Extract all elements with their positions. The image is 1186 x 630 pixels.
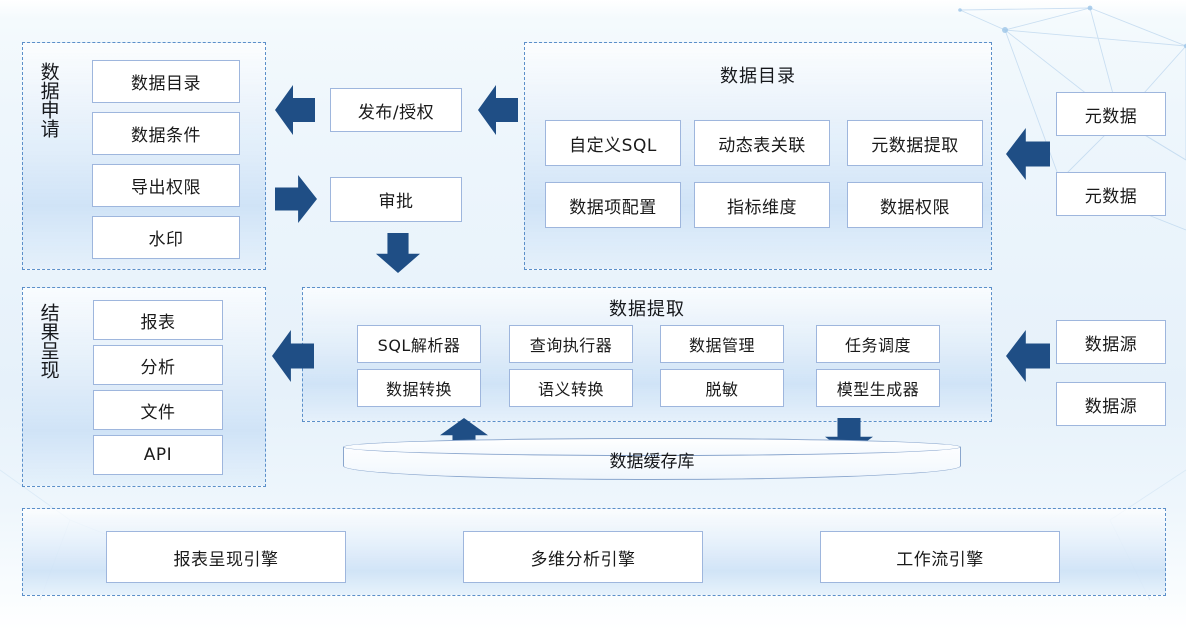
catalog-item-2[interactable]: 元数据提取	[847, 120, 983, 166]
catalog-to-publish-arrow-left-icon	[478, 85, 518, 135]
publish-to-request-arrow-left-icon	[275, 85, 315, 135]
metadata-to-catalog-arrow-left-icon	[1006, 128, 1050, 180]
result-item-0[interactable]: 报表	[93, 300, 223, 340]
extract-item-0[interactable]: SQL解析器	[357, 325, 481, 363]
approve-box[interactable]: 审批	[330, 177, 462, 222]
result-item-1[interactable]: 分析	[93, 345, 223, 385]
extract-item-1[interactable]: 查询执行器	[509, 325, 633, 363]
result-item-3[interactable]: API	[93, 435, 223, 475]
data-extract-panel-title: 数据提取	[302, 295, 992, 321]
extract-item-4[interactable]: 数据转换	[357, 369, 481, 407]
result-presentation-panel-label: 结果呈现	[33, 303, 63, 384]
data-request-item-2[interactable]: 导出权限	[92, 164, 240, 207]
datasource-to-extract-arrow-left-icon	[1006, 330, 1050, 382]
data-catalog-panel-title: 数据目录	[524, 62, 992, 88]
metadata-item-1[interactable]: 元数据	[1056, 172, 1166, 216]
catalog-item-0[interactable]: 自定义SQL	[545, 120, 681, 166]
datasource-item-1[interactable]: 数据源	[1056, 382, 1166, 426]
extract-item-5[interactable]: 语义转换	[509, 369, 633, 407]
extract-item-3[interactable]: 任务调度	[816, 325, 940, 363]
datasource-item-0[interactable]: 数据源	[1056, 320, 1166, 364]
diagram-canvas: 数据申请 数据目录 数据条件 导出权限 水印 结果呈现 报表 分析 文件 API…	[0, 0, 1186, 630]
data-request-item-1[interactable]: 数据条件	[92, 112, 240, 155]
result-item-2[interactable]: 文件	[93, 390, 223, 430]
catalog-item-1[interactable]: 动态表关联	[694, 120, 830, 166]
catalog-item-3[interactable]: 数据项配置	[545, 182, 681, 228]
extract-item-7[interactable]: 模型生成器	[816, 369, 940, 407]
extract-item-6[interactable]: 脱敏	[660, 369, 784, 407]
request-to-approve-arrow-right-icon	[275, 175, 317, 223]
extract-item-2[interactable]: 数据管理	[660, 325, 784, 363]
data-request-item-3[interactable]: 水印	[92, 216, 240, 259]
approve-down-arrow-icon	[376, 233, 420, 273]
data-cache-database-label: 数据缓存库	[343, 438, 961, 480]
metadata-item-0[interactable]: 元数据	[1056, 92, 1166, 136]
engine-item-0[interactable]: 报表呈现引擎	[106, 531, 346, 583]
data-request-item-0[interactable]: 数据目录	[92, 60, 240, 103]
data-cache-database: 数据缓存库	[343, 438, 961, 480]
engine-item-1[interactable]: 多维分析引擎	[463, 531, 703, 583]
catalog-item-5[interactable]: 数据权限	[847, 182, 983, 228]
publish-authorize-box[interactable]: 发布/授权	[330, 88, 462, 132]
data-request-panel-label: 数据申请	[33, 62, 63, 143]
engine-item-2[interactable]: 工作流引擎	[820, 531, 1060, 583]
catalog-item-4[interactable]: 指标维度	[694, 182, 830, 228]
